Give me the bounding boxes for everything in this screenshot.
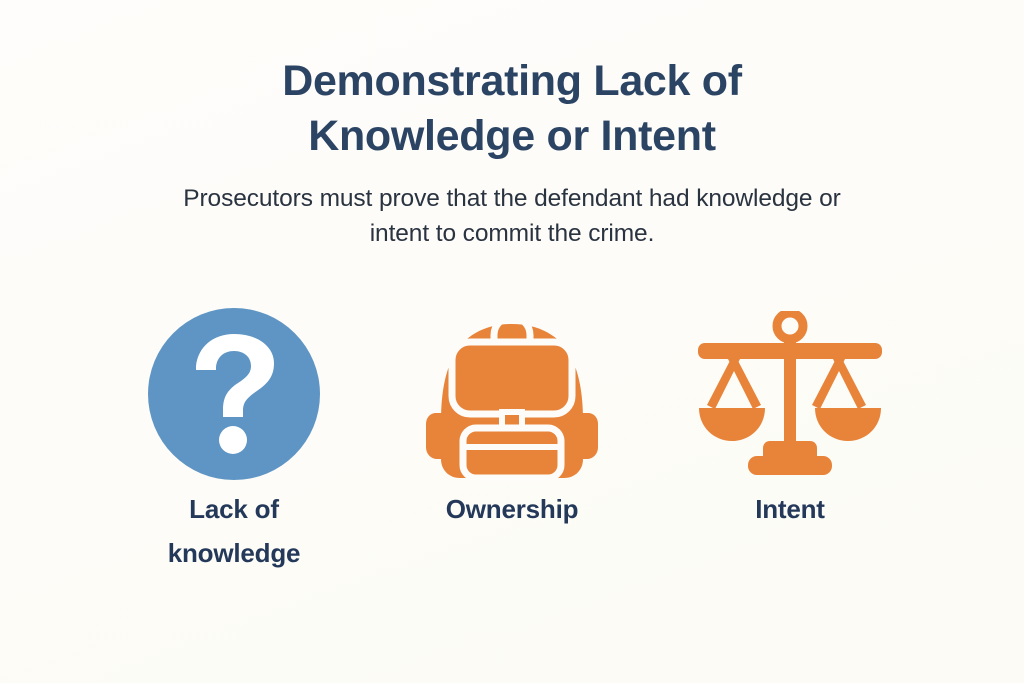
slide-header: Demonstrating Lack of Knowledge or Inten…: [0, 0, 1024, 252]
column-intent: Intent: [651, 300, 929, 532]
backpack-icon: [426, 306, 598, 482]
column-label-ownership: Ownership: [446, 488, 579, 532]
column-lack-of-knowledge: Lack of knowledge: [95, 300, 373, 575]
title-line-2: Knowledge or Intent: [308, 112, 716, 160]
column-label-lack-of-knowledge: Lack of knowledge: [139, 488, 329, 575]
icon-columns: Lack of knowledge: [0, 300, 1024, 575]
question-mark-circle-icon: [148, 308, 320, 480]
icon-container-backpack: [426, 300, 598, 488]
slide-canvas: Demonstrating Lack of Knowledge or Inten…: [0, 0, 1024, 683]
page-title: Demonstrating Lack of Knowledge or Inten…: [192, 54, 832, 164]
column-ownership: Ownership: [373, 300, 651, 532]
page-subtitle: Prosecutors must prove that the defendan…: [162, 182, 862, 252]
icon-container-scales: [697, 300, 883, 488]
scales-of-justice-icon: [697, 311, 883, 477]
title-line-1: Demonstrating Lack of: [282, 57, 742, 105]
column-label-intent: Intent: [755, 488, 825, 532]
icon-container-question: [148, 300, 320, 488]
